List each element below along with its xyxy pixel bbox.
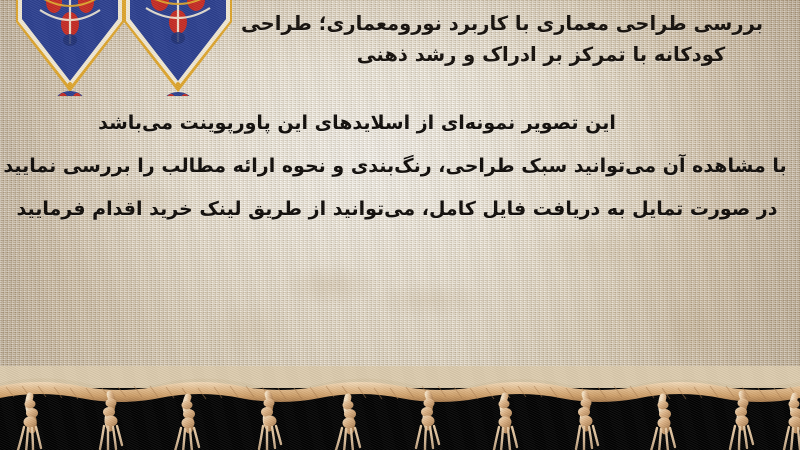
- slide-body: این تصویر نمونه‌ای از اسلایدهای این پاور…: [0, 108, 800, 224]
- slide-body-line-1: این تصویر نمونه‌ای از اسلایدهای این پاور…: [0, 108, 800, 138]
- slide-title-line-2: کودکانه با تمرکز بر ادراک و رشد ذهنی: [222, 39, 800, 70]
- slide-text-layer: بررسی طراحی معماری با کاربرد نورومعماری؛…: [0, 0, 800, 372]
- slide-body-line-3: در صورت تمایل به دریافت فایل کامل، می‌تو…: [0, 194, 800, 224]
- slide-title-line-1: بررسی طراحی معماری با کاربرد نورومعماری؛…: [222, 8, 782, 39]
- slide-body-line-2: با مشاهده آن می‌توانید سبک طراحی، رنگ‌بن…: [0, 151, 800, 181]
- presentation-slide: بررسی طراحی معماری با کاربرد نورومعماری؛…: [0, 0, 800, 450]
- slide-title: بررسی طراحی معماری با کاربرد نورومعماری؛…: [222, 8, 782, 70]
- carpet-fringe: [0, 366, 800, 450]
